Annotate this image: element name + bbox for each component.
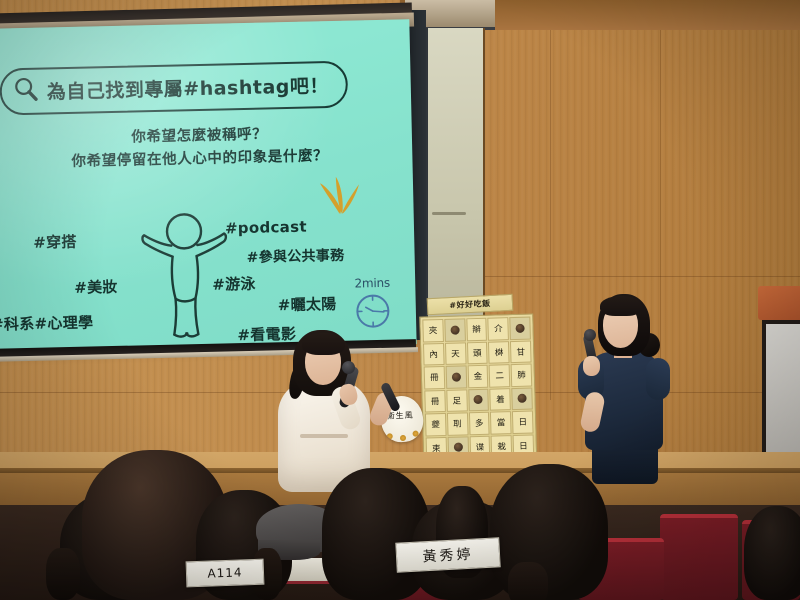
poster-photo-portrait — [453, 443, 462, 452]
poster-character-cell: 金 — [467, 365, 488, 388]
right-speaker-hand — [583, 356, 600, 376]
magnifier-icon — [12, 75, 40, 108]
podium-top — [758, 286, 800, 320]
hashtag-item: #podcast — [225, 218, 307, 238]
poster-photo-cell — [509, 317, 530, 340]
poster-character-cell: 多 — [469, 412, 490, 435]
slide-content: 為自己找到專屬#hashtag吧！ 你希望怎麼被稱呼？ 你希望停留在他人心中的印… — [0, 19, 417, 354]
name-card: A114 — [186, 559, 265, 588]
right-speaker-fringe — [600, 296, 642, 316]
poster-photo-cell — [445, 365, 466, 388]
poster-photo-portrait — [474, 395, 483, 404]
right-speaker-skirt — [592, 444, 658, 484]
name-card: 黃秀婷 — [395, 537, 500, 572]
slide-timer: 2mins — [352, 276, 393, 337]
sign-decoration — [400, 435, 407, 442]
projection-screen: 為自己找到專屬#hashtag吧！ 你希望怎麼被稱呼？ 你希望停留在他人心中的印… — [0, 19, 417, 354]
poster-character-cell: 冊 — [424, 366, 445, 389]
poster-board: 夾辮介內天頭棥甘冊金二肺冊足着夔刵多當日束谍栽日 — [415, 294, 544, 463]
poster-character-cell: 冊 — [424, 389, 445, 412]
hashtag-item: #曬太陽 — [277, 293, 336, 315]
audience-head — [744, 506, 800, 600]
poster-character-cell: 夔 — [425, 413, 446, 436]
poster-character-cell: 刵 — [447, 412, 468, 435]
audience-ponytail — [508, 562, 548, 600]
poster-character-cell: 內 — [423, 342, 444, 365]
poster-photo-portrait — [451, 372, 460, 381]
poster-character-cell: 頭 — [467, 341, 488, 364]
door-handle[interactable] — [432, 212, 466, 215]
poster-character-cell: 甘 — [510, 340, 531, 363]
poster-character-cell: 介 — [488, 317, 509, 340]
wall-seam-vertical — [550, 30, 551, 400]
hashtag-item: #穿搭 — [33, 231, 77, 253]
podium-body — [762, 320, 800, 472]
photo-scene: 為自己找到專屬#hashtag吧！ 你希望怎麼被稱呼？ 你希望停留在他人心中的印… — [0, 0, 800, 600]
microphone-head — [584, 329, 596, 341]
slide-search-pill: 為自己找到專屬#hashtag吧！ — [0, 61, 348, 116]
timer-label: 2mins — [352, 276, 392, 291]
poster-character-cell: 天 — [445, 342, 466, 365]
wall-seam-vertical — [660, 0, 661, 400]
hashtag-item: #美妝 — [74, 276, 118, 298]
right-speaker-sleeve — [646, 358, 670, 400]
poster-grid: 夾辮介內天頭棥甘冊金二肺冊足着夔刵多當日束谍栽日 — [419, 313, 537, 462]
poster-photo-portrait — [516, 323, 525, 332]
poster-character-cell: 日 — [512, 411, 533, 434]
left-speaker-fringe — [302, 333, 345, 355]
poster-character-cell: 當 — [490, 411, 511, 434]
hashtag-item: #參與公共事務 — [246, 245, 344, 267]
hashtag-item: #科系#心理學 — [0, 311, 94, 334]
podium — [758, 286, 800, 471]
character-poster: #好好吃飯 夾辮介內天頭棥甘冊金二肺冊足着夔刵多當日束谍栽日 — [417, 296, 545, 466]
hashtag-item: #游泳 — [212, 273, 256, 295]
door-glass-panel — [425, 28, 485, 328]
poster-photo-cell — [511, 387, 532, 410]
sign-decoration — [386, 433, 393, 440]
clock-icon — [352, 291, 393, 337]
leaf-sprig-icon — [316, 163, 365, 221]
slide-title: 為自己找到專屬#hashtag吧！ — [46, 71, 329, 104]
wall-seam — [430, 276, 800, 277]
auditorium-seat[interactable] — [660, 514, 738, 600]
poster-character-cell: 辮 — [466, 318, 487, 341]
poster-photo-portrait — [450, 325, 459, 334]
poster-character-cell: 着 — [490, 388, 511, 411]
poster-character-cell: 肺 — [511, 364, 532, 387]
wall-seam — [0, 392, 800, 393]
poster-character-cell: 足 — [446, 389, 467, 412]
left-speaker-waist-tie — [300, 434, 348, 438]
poster-character-cell: 二 — [489, 364, 510, 387]
poster-photo-cell — [468, 388, 489, 411]
poster-photo-portrait — [518, 394, 527, 403]
audience-ponytail — [46, 548, 80, 600]
poster-character-cell: 夾 — [422, 319, 443, 342]
poster-photo-cell — [444, 318, 465, 341]
poster-character-cell: 棥 — [488, 341, 509, 364]
